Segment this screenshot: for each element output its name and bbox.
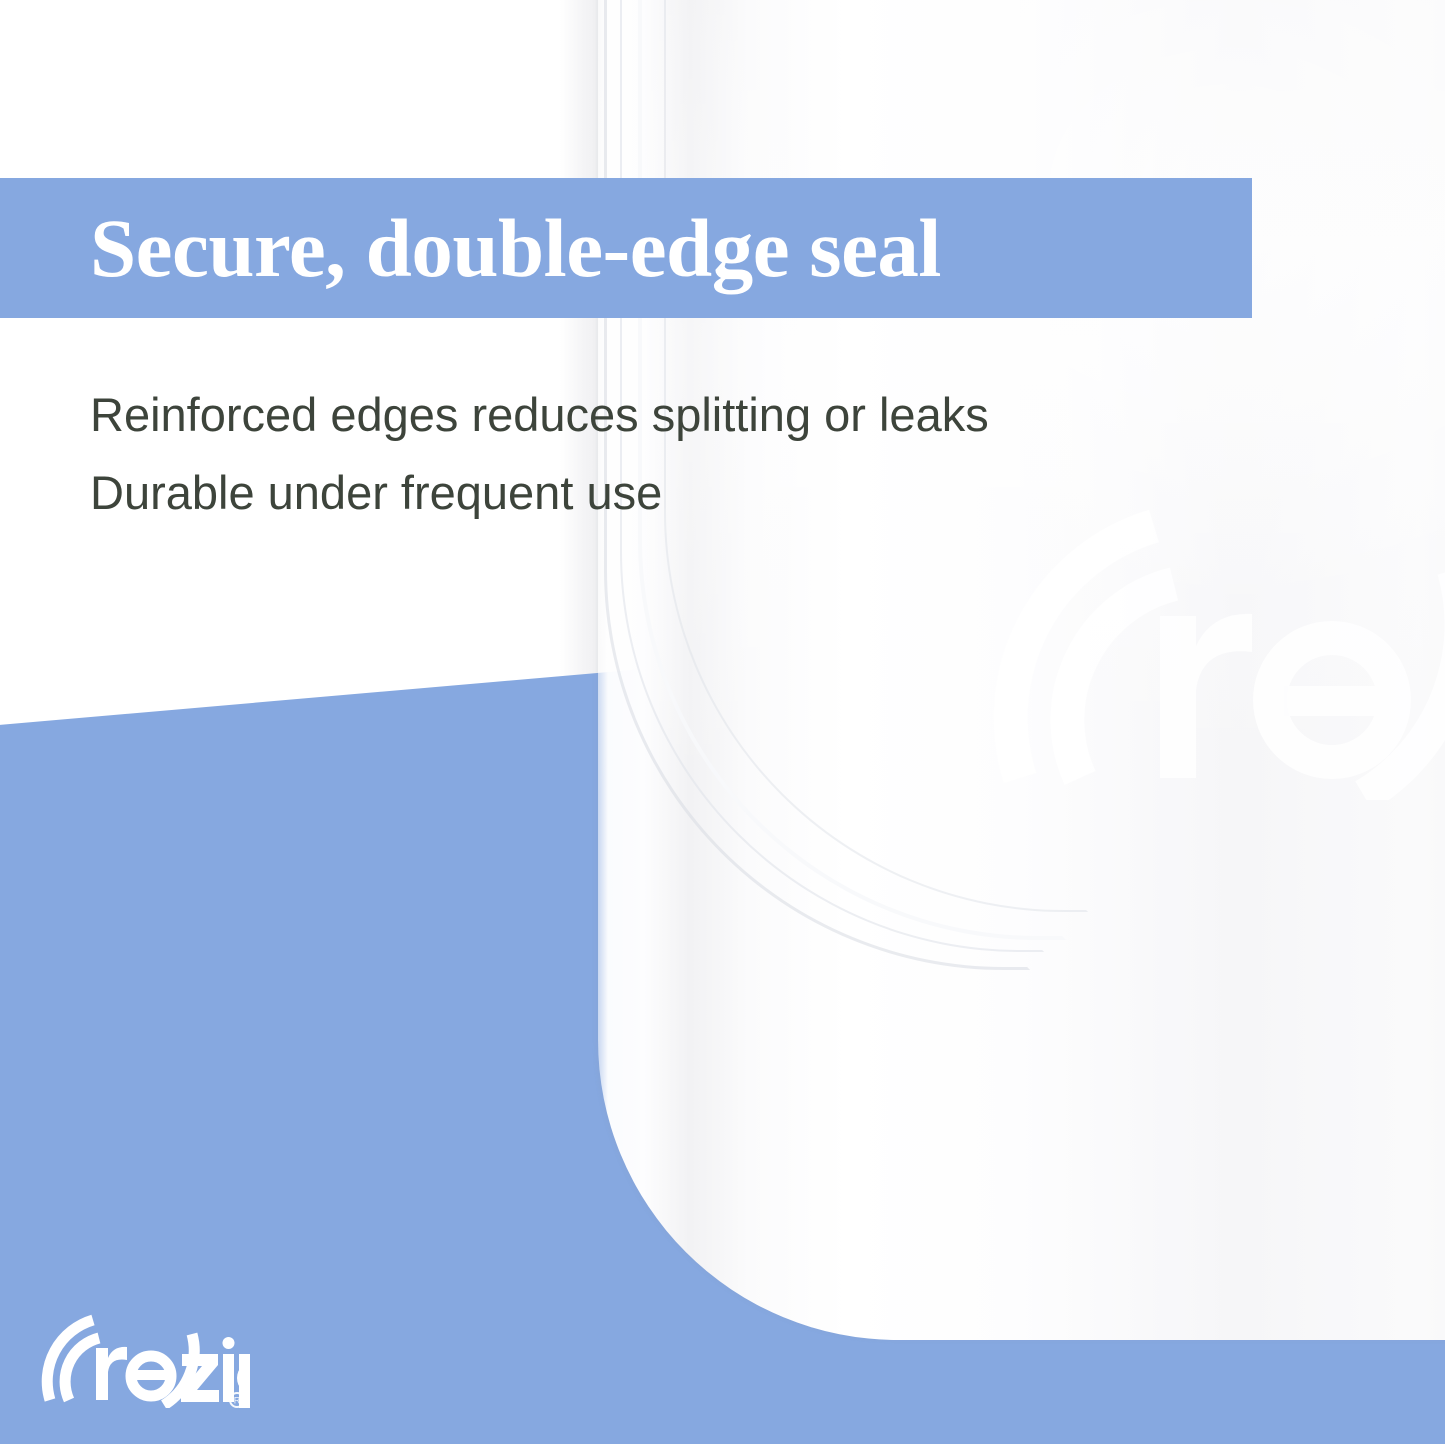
logo-letter-e [131, 1356, 171, 1396]
rezip-logo: R [40, 1312, 250, 1408]
headline-band: Secure, double-edge seal [0, 178, 1252, 318]
svg-text:R: R [234, 1396, 241, 1406]
feature-bullet-1: Reinforced edges reduces splitting or le… [90, 376, 1170, 454]
feature-bullet-list: Reinforced edges reduces splitting or le… [90, 376, 1170, 532]
product-feature-image: Secure, double-edge seal Reinforced edge… [0, 0, 1445, 1444]
logo-letter-i [223, 1337, 235, 1402]
logo-letter-r [96, 1347, 127, 1400]
feature-bullet-2: Durable under frequent use [90, 454, 1170, 532]
bag-watermark-rezip-logo [984, 500, 1445, 800]
logo-open-paren-icon [47, 1320, 99, 1400]
page-title: Secure, double-edge seal [90, 207, 941, 290]
